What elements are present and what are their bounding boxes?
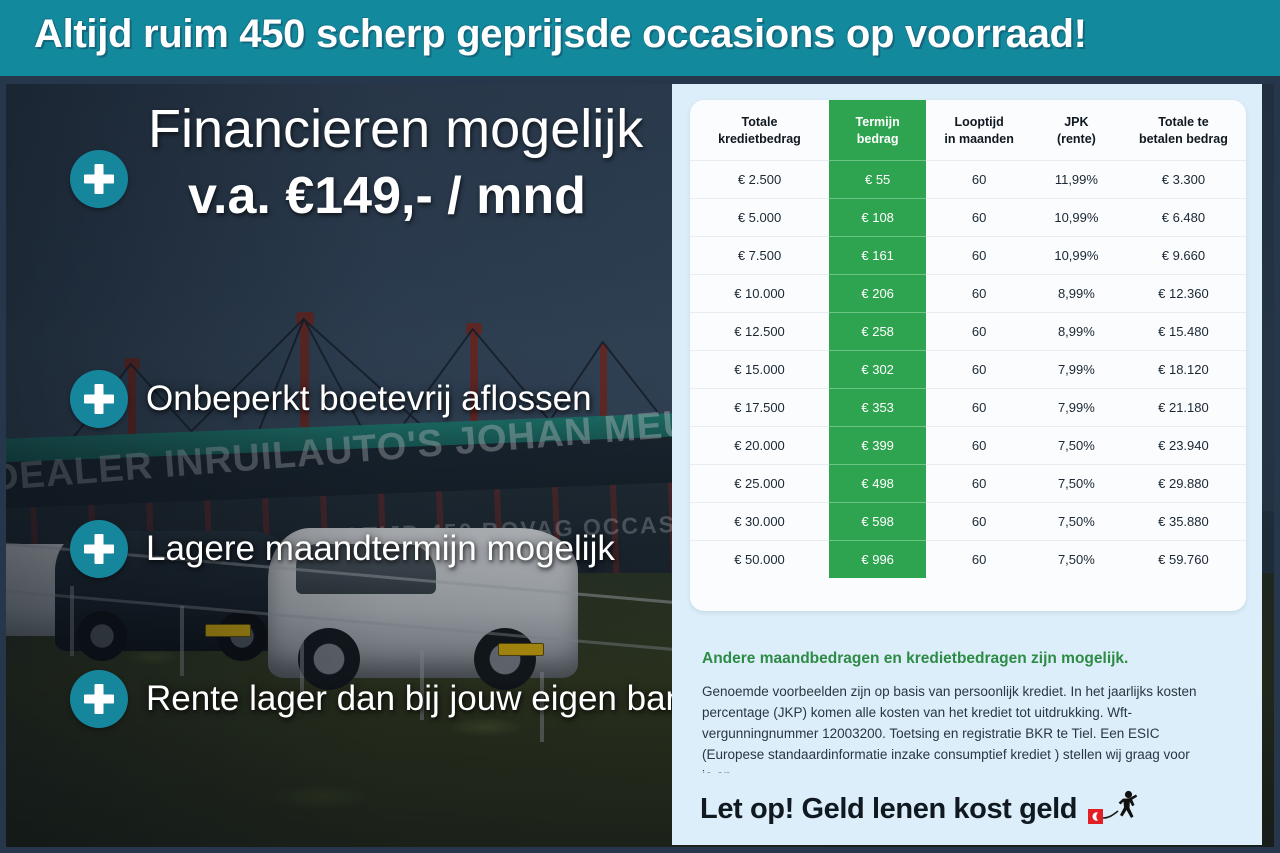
cell-krediet: € 50.000 xyxy=(690,540,829,578)
cell-krediet: € 30.000 xyxy=(690,502,829,540)
warning-bar: Let op! Geld lenen kost geld xyxy=(672,773,1262,845)
cell-termijn: € 55 xyxy=(829,160,926,198)
cell-termijn: € 302 xyxy=(829,350,926,388)
cell-totaal: € 15.480 xyxy=(1121,312,1246,350)
table-row: € 20.000€ 399607,50%€ 23.940 xyxy=(690,426,1246,464)
cell-krediet: € 20.000 xyxy=(690,426,829,464)
cell-looptijd: 60 xyxy=(926,388,1032,426)
cell-jkp: 7,99% xyxy=(1032,350,1121,388)
cell-jkp: 7,99% xyxy=(1032,388,1121,426)
cell-krediet: € 5.000 xyxy=(690,198,829,236)
table-header-row: Totale kredietbedrag Termijn bedrag Loop… xyxy=(690,100,1246,160)
cell-jkp: 10,99% xyxy=(1032,198,1121,236)
cell-krediet: € 25.000 xyxy=(690,464,829,502)
cell-krediet: € 10.000 xyxy=(690,274,829,312)
cell-looptijd: 60 xyxy=(926,464,1032,502)
header-line2: in maanden xyxy=(944,132,1013,146)
cell-jkp: 7,50% xyxy=(1032,464,1121,502)
feature-item-2: Onbeperkt boetevrij aflossen xyxy=(70,370,592,428)
cell-termijn: € 108 xyxy=(829,198,926,236)
cell-jkp: 7,50% xyxy=(1032,502,1121,540)
cell-termijn: € 258 xyxy=(829,312,926,350)
cell-looptijd: 60 xyxy=(926,502,1032,540)
table-row: € 5.000€ 1086010,99%€ 6.480 xyxy=(690,198,1246,236)
cell-totaal: € 12.360 xyxy=(1121,274,1246,312)
table-row: € 17.500€ 353607,99%€ 21.180 xyxy=(690,388,1246,426)
cell-krediet: € 17.500 xyxy=(690,388,829,426)
table-row: € 15.000€ 302607,99%€ 18.120 xyxy=(690,350,1246,388)
table-row: € 7.500€ 1616010,99%€ 9.660 xyxy=(690,236,1246,274)
cell-termijn: € 206 xyxy=(829,274,926,312)
warning-text: Let op! Geld lenen kost geld xyxy=(700,793,1077,826)
cell-totaal: € 59.760 xyxy=(1121,540,1246,578)
hero-headline-line2: v.a. €149,- / mnd xyxy=(188,166,586,226)
cell-jkp: 10,99% xyxy=(1032,236,1121,274)
rates-table-card: Totale kredietbedrag Termijn bedrag Loop… xyxy=(690,100,1246,611)
banner-headline: Altijd ruim 450 scherp geprijsde occasio… xyxy=(34,12,1087,57)
cell-totaal: € 21.180 xyxy=(1121,388,1246,426)
note-title: Andere maandbedragen en kredietbedragen … xyxy=(702,649,1232,669)
cell-totaal: € 29.880 xyxy=(1121,464,1246,502)
feature-list: Financieren mogelijk v.a. €149,- / mnd O… xyxy=(0,76,680,853)
plus-icon xyxy=(70,370,128,428)
table-row: € 30.000€ 598607,50%€ 35.880 xyxy=(690,502,1246,540)
note-body: Genoemde voorbeelden zijn op basis van p… xyxy=(702,682,1202,787)
column-header-termijn-bedrag: Termijn bedrag xyxy=(829,100,926,160)
feature-label: Lagere maandtermijn mogelijk xyxy=(146,529,615,568)
cell-krediet: € 15.000 xyxy=(690,350,829,388)
table-row: € 10.000€ 206608,99%€ 12.360 xyxy=(690,274,1246,312)
column-header-totale-te-betalen: Totale te betalen bedrag xyxy=(1121,100,1246,160)
cell-jkp: 8,99% xyxy=(1032,312,1121,350)
cell-totaal: € 9.660 xyxy=(1121,236,1246,274)
header-line2: bedrag xyxy=(857,132,899,146)
feature-item-3: Lagere maandtermijn mogelijk xyxy=(70,520,615,578)
cell-jkp: 7,50% xyxy=(1032,426,1121,464)
header-line2: (rente) xyxy=(1057,132,1096,146)
cell-looptijd: 60 xyxy=(926,426,1032,464)
table-row: € 50.000€ 996607,50%€ 59.760 xyxy=(690,540,1246,578)
cell-looptijd: 60 xyxy=(926,160,1032,198)
header-line1: Looptijd xyxy=(954,115,1003,129)
cell-krediet: € 2.500 xyxy=(690,160,829,198)
header-line1: Termijn xyxy=(856,115,900,129)
cell-termijn: € 598 xyxy=(829,502,926,540)
cell-looptijd: 60 xyxy=(926,236,1032,274)
plus-icon xyxy=(70,520,128,578)
plus-icon xyxy=(70,670,128,728)
table-row: € 12.500€ 258608,99%€ 15.480 xyxy=(690,312,1246,350)
hero-headline-line1: Financieren mogelijk xyxy=(148,98,643,160)
cell-jkp: 7,50% xyxy=(1032,540,1121,578)
cell-krediet: € 12.500 xyxy=(690,312,829,350)
cell-looptijd: 60 xyxy=(926,540,1032,578)
cell-termijn: € 399 xyxy=(829,426,926,464)
afm-geld-lenen-kost-geld-icon xyxy=(1087,789,1147,829)
column-header-jkp: JPK (rente) xyxy=(1032,100,1121,160)
advertisement-root: DEALER INRUILAUTO'S JOHAN MEURE ALTIJD 4… xyxy=(0,0,1280,853)
header-line2: betalen bedrag xyxy=(1139,132,1228,146)
cell-totaal: € 23.940 xyxy=(1121,426,1246,464)
plus-icon xyxy=(70,150,128,208)
column-header-looptijd: Looptijd in maanden xyxy=(926,100,1032,160)
table-row: € 2.500€ 556011,99%€ 3.300 xyxy=(690,160,1246,198)
header-line1: JPK xyxy=(1064,115,1088,129)
cell-termijn: € 498 xyxy=(829,464,926,502)
rates-table: Totale kredietbedrag Termijn bedrag Loop… xyxy=(690,100,1246,578)
feature-label: Onbeperkt boetevrij aflossen xyxy=(146,379,592,418)
cell-termijn: € 996 xyxy=(829,540,926,578)
top-banner: Altijd ruim 450 scherp geprijsde occasio… xyxy=(0,0,1280,76)
cell-jkp: 11,99% xyxy=(1032,160,1121,198)
cell-totaal: € 18.120 xyxy=(1121,350,1246,388)
cell-totaal: € 6.480 xyxy=(1121,198,1246,236)
cell-totaal: € 35.880 xyxy=(1121,502,1246,540)
cell-looptijd: 60 xyxy=(926,312,1032,350)
header-line1: Totale xyxy=(742,115,778,129)
header-line1: Totale te xyxy=(1158,115,1208,129)
cell-looptijd: 60 xyxy=(926,274,1032,312)
feature-label: Rente lager dan bij jouw eigen bank xyxy=(146,679,703,718)
cell-krediet: € 7.500 xyxy=(690,236,829,274)
cell-totaal: € 3.300 xyxy=(1121,160,1246,198)
column-header-totale-kredietbedrag: Totale kredietbedrag xyxy=(690,100,829,160)
cell-termijn: € 161 xyxy=(829,236,926,274)
cell-jkp: 8,99% xyxy=(1032,274,1121,312)
cell-looptijd: 60 xyxy=(926,198,1032,236)
cell-looptijd: 60 xyxy=(926,350,1032,388)
header-line2: kredietbedrag xyxy=(718,132,801,146)
feature-item-4: Rente lager dan bij jouw eigen bank xyxy=(70,670,703,728)
finance-info-panel: Totale kredietbedrag Termijn bedrag Loop… xyxy=(672,84,1262,845)
cell-termijn: € 353 xyxy=(829,388,926,426)
table-row: € 25.000€ 498607,50%€ 29.880 xyxy=(690,464,1246,502)
rates-table-body: € 2.500€ 556011,99%€ 3.300€ 5.000€ 10860… xyxy=(690,160,1246,578)
